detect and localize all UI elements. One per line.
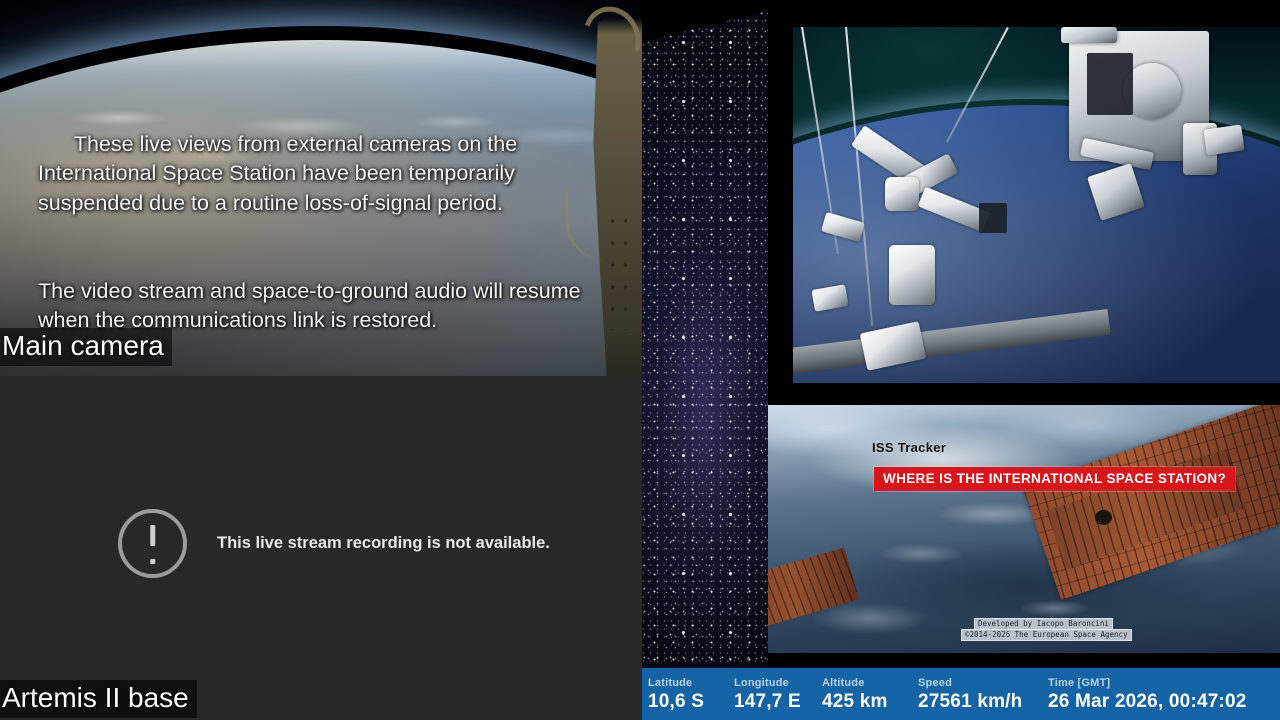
telemetry-longitude-label: Longitude — [734, 677, 822, 690]
iss-tracker-banner: WHERE IS THE INTERNATIONAL SPACE STATION… — [874, 467, 1235, 491]
main-camera-feed[interactable]: These live views from external cameras o… — [0, 0, 642, 376]
alert-circle-icon — [118, 509, 187, 578]
harmony-module-camera-feed[interactable]: Harmony module camera — [768, 0, 1280, 395]
telemetry-latitude-value: 10,6 S — [648, 691, 734, 712]
telemetry-time: Time [GMT] 26 Mar 2026, 00:47:02 — [1048, 677, 1280, 712]
hardware-bolts — [606, 210, 632, 330]
equipment-module-boom — [1061, 27, 1117, 43]
telemetry-speed: Speed 27561 km/h — [918, 677, 1048, 712]
tracker-credit-agency: ©2014-2026 The European Space Agency — [961, 629, 1132, 641]
telemetry-time-label: Time [GMT] — [1048, 677, 1280, 690]
robotic-arm-joint — [885, 177, 919, 211]
telemetry-altitude-value: 425 km — [822, 691, 918, 712]
harmony-video-area — [793, 27, 1280, 383]
star-layer-bright — [642, 0, 768, 668]
main-camera-label: Main camera — [0, 328, 172, 366]
telemetry-latitude: Latitude 10,6 S — [648, 677, 734, 712]
telemetry-latitude-label: Latitude — [648, 677, 734, 690]
artemis-base-label: Artemis II base — [0, 680, 197, 718]
equipment-module-node — [1203, 124, 1244, 155]
stream-unavailable-notice: This live stream recording is not availa… — [118, 509, 550, 578]
notice-paragraph-1: These live views from external cameras o… — [38, 132, 523, 215]
telemetry-altitude-label: Altitude — [822, 677, 918, 690]
telemetry-longitude-value: 147,7 E — [734, 691, 822, 712]
telemetry-speed-value: 27561 km/h — [918, 691, 1048, 712]
video-wall: These live views from external cameras o… — [0, 0, 1280, 720]
tracker-video-area: ISS Tracker WHERE IS THE INTERNATIONAL S… — [768, 405, 1280, 653]
iss-tracker-feed[interactable]: ISS Tracker WHERE IS THE INTERNATIONAL S… — [768, 395, 1280, 668]
starfield-feed[interactable] — [642, 0, 768, 668]
robotic-arm-segment-4 — [889, 245, 935, 305]
telemetry-altitude: Altitude 425 km — [822, 677, 918, 712]
telemetry-time-value: 26 Mar 2026, 00:47:02 — [1048, 691, 1280, 712]
artemis-ii-base-feed[interactable]: This live stream recording is not availa… — [0, 376, 642, 720]
telemetry-speed-label: Speed — [918, 677, 1048, 690]
arm-end-effector — [979, 203, 1007, 233]
unavailable-message: This live stream recording is not availa… — [217, 534, 550, 553]
equipment-module-panel — [1087, 53, 1133, 115]
iss-tracker-title: ISS Tracker — [872, 440, 946, 455]
solar-array-hub — [1095, 510, 1112, 525]
iss-telemetry-bar: Latitude 10,6 S Longitude 147,7 E Altitu… — [642, 668, 1280, 720]
notice-paragraph-2: The video stream and space-to-ground aud… — [38, 277, 598, 336]
telemetry-longitude: Longitude 147,7 E — [734, 677, 822, 712]
